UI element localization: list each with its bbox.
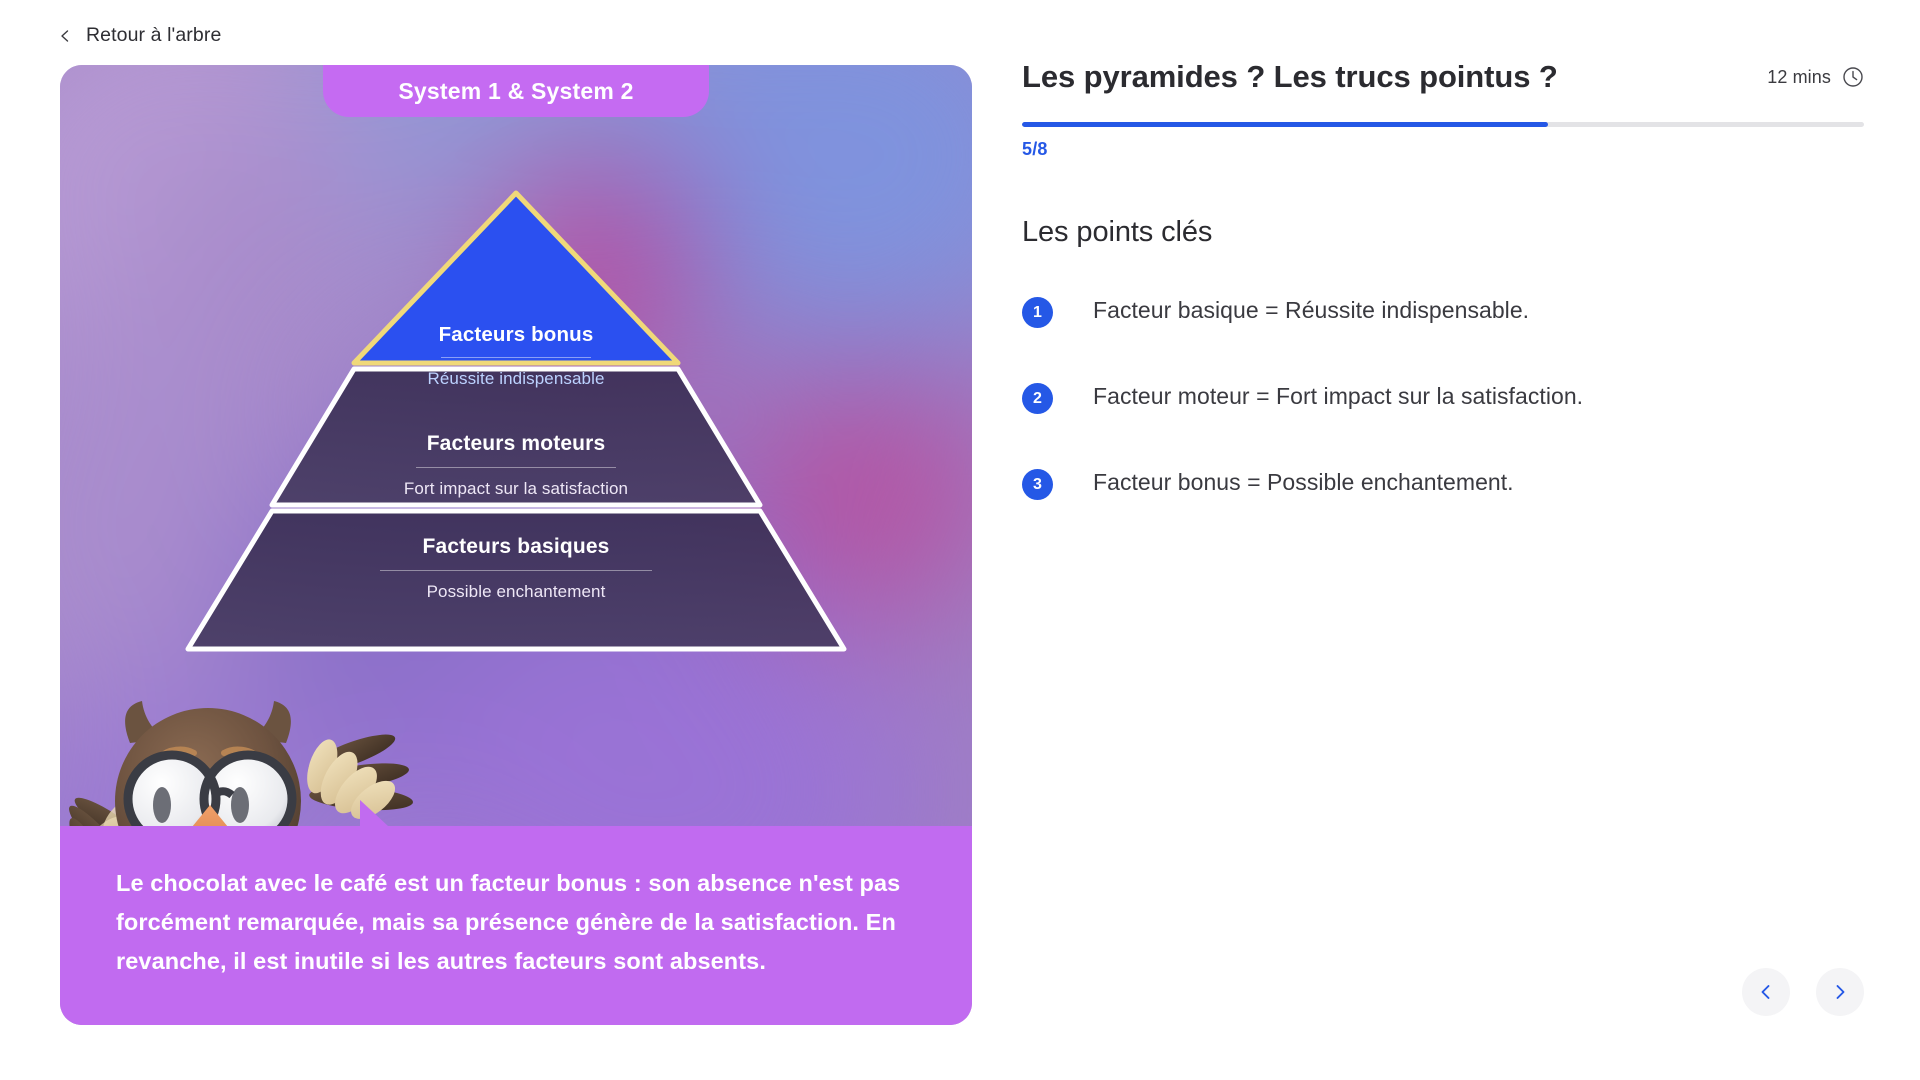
chevron-left-icon bbox=[1757, 983, 1775, 1001]
system-badge-label: System 1 & System 2 bbox=[398, 78, 633, 105]
key-point-text: Facteur basique = Réussite indispensable… bbox=[1093, 295, 1529, 325]
slide-navigation bbox=[1742, 968, 1864, 1016]
panel-header: Les pyramides ? Les trucs pointus ? 12 m… bbox=[1022, 58, 1864, 96]
clock-icon bbox=[1842, 66, 1864, 88]
chevron-left-icon bbox=[58, 29, 72, 43]
progress-bar-fill bbox=[1022, 122, 1548, 127]
divider bbox=[416, 467, 616, 468]
divider bbox=[441, 357, 591, 358]
bubble-text: Le chocolat avec le café est un facteur … bbox=[116, 864, 912, 981]
back-to-tree-link[interactable]: Retour à l'arbre bbox=[58, 24, 221, 47]
key-point-number-badge: 2 bbox=[1022, 383, 1053, 414]
key-point-text: Facteur moteur = Fort impact sur la sati… bbox=[1093, 381, 1583, 411]
bubble-tail bbox=[360, 800, 388, 826]
duration-indicator: 12 mins bbox=[1767, 58, 1864, 88]
previous-slide-button[interactable] bbox=[1742, 968, 1790, 1016]
pyramid-level-top: Facteurs bonus Réussite indispensable bbox=[180, 323, 852, 389]
pyramid-level-subtitle: Possible enchantement bbox=[180, 582, 852, 602]
page-root: Retour à l'arbre System 1 & System 2 bbox=[0, 0, 1920, 1080]
system-badge: System 1 & System 2 bbox=[323, 65, 709, 117]
pyramid-level-base: Facteurs basiques Possible enchantement bbox=[180, 535, 852, 602]
mascot-speech-bubble: Le chocolat avec le café est un facteur … bbox=[60, 826, 972, 1025]
list-item: 2 Facteur moteur = Fort impact sur la sa… bbox=[1022, 381, 1864, 414]
pyramid-level-title: Facteurs bonus bbox=[180, 323, 852, 347]
chevron-right-icon bbox=[1831, 983, 1849, 1001]
pyramid-level-subtitle: Fort impact sur la satisfaction bbox=[180, 479, 852, 499]
list-item: 3 Facteur bonus = Possible enchantement. bbox=[1022, 467, 1864, 500]
next-slide-button[interactable] bbox=[1816, 968, 1864, 1016]
divider bbox=[380, 570, 652, 571]
key-point-text: Facteur bonus = Possible enchantement. bbox=[1093, 467, 1514, 497]
page-title: Les pyramides ? Les trucs pointus ? bbox=[1022, 58, 1558, 96]
duration-label: 12 mins bbox=[1767, 67, 1831, 88]
back-link-label: Retour à l'arbre bbox=[86, 24, 221, 47]
pyramid-level-middle: Facteurs moteurs Fort impact sur la sati… bbox=[180, 432, 852, 499]
key-points-list: 1 Facteur basique = Réussite indispensab… bbox=[1022, 295, 1864, 500]
key-point-number-badge: 3 bbox=[1022, 469, 1053, 500]
pyramid-level-title: Facteurs basiques bbox=[180, 535, 852, 559]
kano-pyramid-diagram: Facteurs bonus Réussite indispensable Fa… bbox=[180, 175, 852, 675]
lesson-visual-card: System 1 & System 2 Facteurs bonus bbox=[60, 65, 972, 1025]
progress-bar bbox=[1022, 122, 1864, 127]
key-points-heading: Les points clés bbox=[1022, 216, 1864, 249]
lesson-info-panel: Les pyramides ? Les trucs pointus ? 12 m… bbox=[1022, 58, 1864, 553]
list-item: 1 Facteur basique = Réussite indispensab… bbox=[1022, 295, 1864, 328]
progress-counter: 5/8 bbox=[1022, 139, 1864, 160]
key-point-number-badge: 1 bbox=[1022, 297, 1053, 328]
pyramid-level-title: Facteurs moteurs bbox=[180, 432, 852, 456]
pyramid-level-subtitle: Réussite indispensable bbox=[180, 368, 852, 389]
